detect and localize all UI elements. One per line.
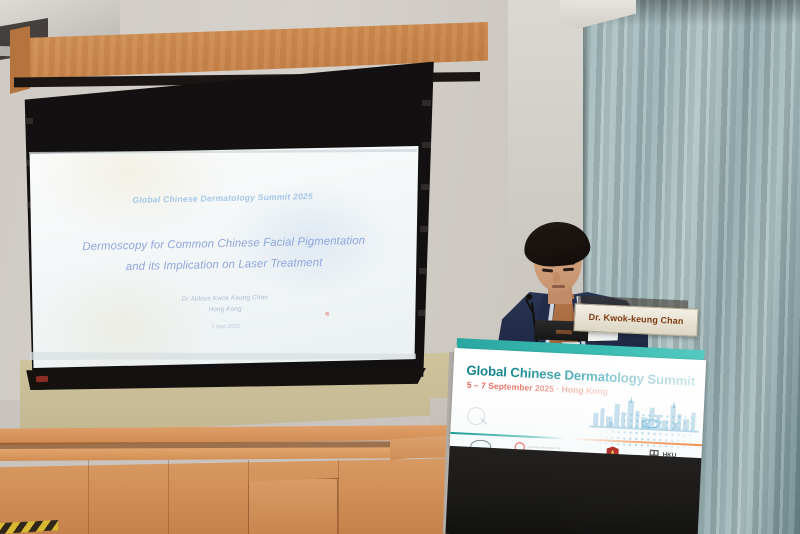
wall-between-screen-and-curtain: [508, 0, 588, 260]
podium-body: [445, 446, 701, 534]
screen-tension-tab: [422, 142, 431, 148]
slide-date: 7 Sep 2025: [30, 320, 422, 335]
microphone-capsule: [526, 294, 532, 300]
screen-tension-tab: [421, 184, 430, 190]
slide-title: Dermoscopy for Common Chinese Facial Pig…: [36, 230, 413, 280]
lectern-podium: Global Chinese Dermatology Summit 5 – 7 …: [445, 338, 706, 534]
wainscot-seam: [338, 460, 339, 534]
laptop-sticker: [556, 330, 572, 335]
wooden-wainscot-panels: [0, 458, 470, 534]
laser-pointer-dot: [325, 312, 329, 316]
slide-title-line1: Dermoscopy for Common Chinese Facial Pig…: [82, 235, 365, 253]
speaker-nose: [553, 272, 560, 283]
projected-slide-content: Global Chinese Dermatology Summit 2025 D…: [26, 142, 423, 372]
conference-photo-scene: Global Chinese Dermatology Summit 2025 D…: [0, 0, 800, 534]
cabinet-door[interactable]: [248, 478, 338, 534]
screen-tension-tab: [422, 100, 431, 106]
wainscot-seam: [88, 460, 89, 534]
wainscot-seam: [168, 460, 169, 534]
podium-banner: Global Chinese Dermatology Summit 5 – 7 …: [450, 348, 707, 460]
speaker-mouth: [552, 285, 565, 288]
slide-title-line2: and its Implication on Laser Treatment: [36, 251, 412, 280]
slide-header-text: Global Chinese Dermatology Summit 2025: [27, 189, 419, 208]
speaker-nameplate: Dr. Kwok-keung Chan: [573, 303, 698, 337]
magnifier-watermark-icon: [467, 407, 486, 426]
screen-brand-badge: [36, 376, 48, 382]
screen-tension-tab: [420, 226, 429, 232]
nameplate-text: Dr. Kwok-keung Chan: [575, 311, 697, 327]
